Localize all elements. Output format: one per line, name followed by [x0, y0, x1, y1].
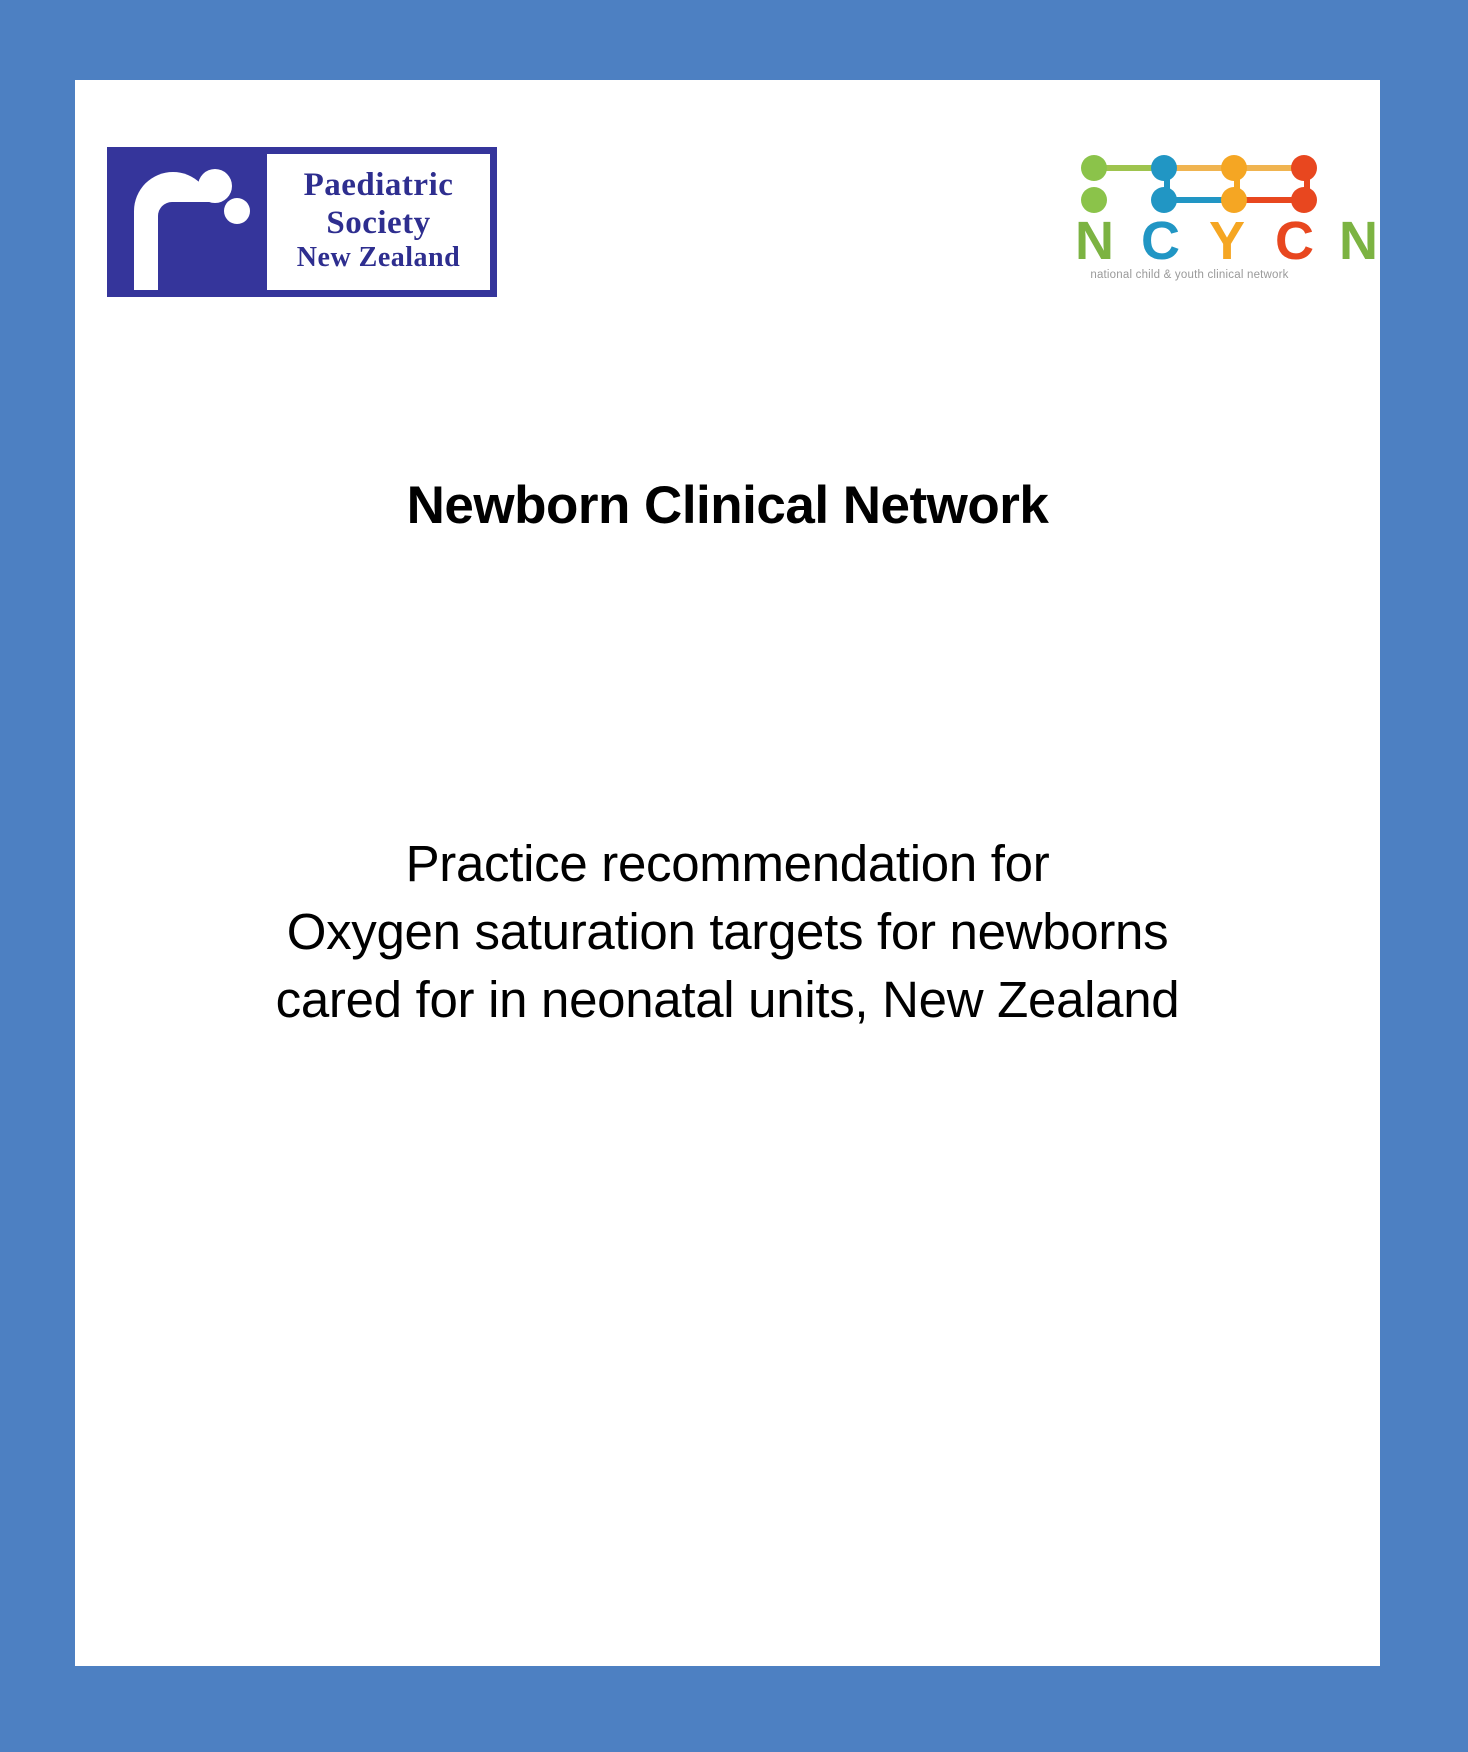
psnz-divider	[260, 154, 267, 290]
psnz-wordmark: Paediatric Society New Zealand	[267, 154, 490, 290]
ncycn-letter-3: Y	[1209, 217, 1247, 265]
ncycn-tagline: national child & youth clinical network	[1057, 269, 1322, 281]
page-subtitle: Practice recommendation for Oxygen satur…	[75, 830, 1380, 1033]
page-title: Newborn Clinical Network	[75, 475, 1380, 536]
ncycn-wordmark: N C Y C N	[1057, 217, 1322, 265]
psnz-line-new-zealand: New Zealand	[297, 242, 460, 274]
subtitle-line-1: Practice recommendation for	[75, 830, 1380, 898]
ncycn-logo: N C Y C N national child & youth clinica…	[1057, 145, 1322, 295]
ncycn-letter-2: C	[1141, 217, 1182, 265]
ncycn-network-icon	[1057, 145, 1322, 217]
subtitle-line-3: cared for in neonatal units, New Zealand	[75, 966, 1380, 1034]
ncycn-letter-4: C	[1275, 217, 1316, 265]
ncycn-letter-5: N	[1339, 217, 1380, 265]
logo-header-row: Paediatric Society New Zealand	[75, 80, 1380, 320]
ncycn-letter-1: N	[1075, 217, 1116, 265]
psnz-line-paediatric: Paediatric	[304, 166, 454, 204]
subtitle-line-2: Oxygen saturation targets for newborns	[75, 898, 1380, 966]
psnz-emblem-icon	[114, 154, 260, 290]
psnz-line-society: Society	[326, 204, 430, 242]
document-page: Paediatric Society New Zealand	[75, 80, 1380, 1666]
paediatric-society-new-zealand-logo: Paediatric Society New Zealand	[107, 147, 497, 297]
